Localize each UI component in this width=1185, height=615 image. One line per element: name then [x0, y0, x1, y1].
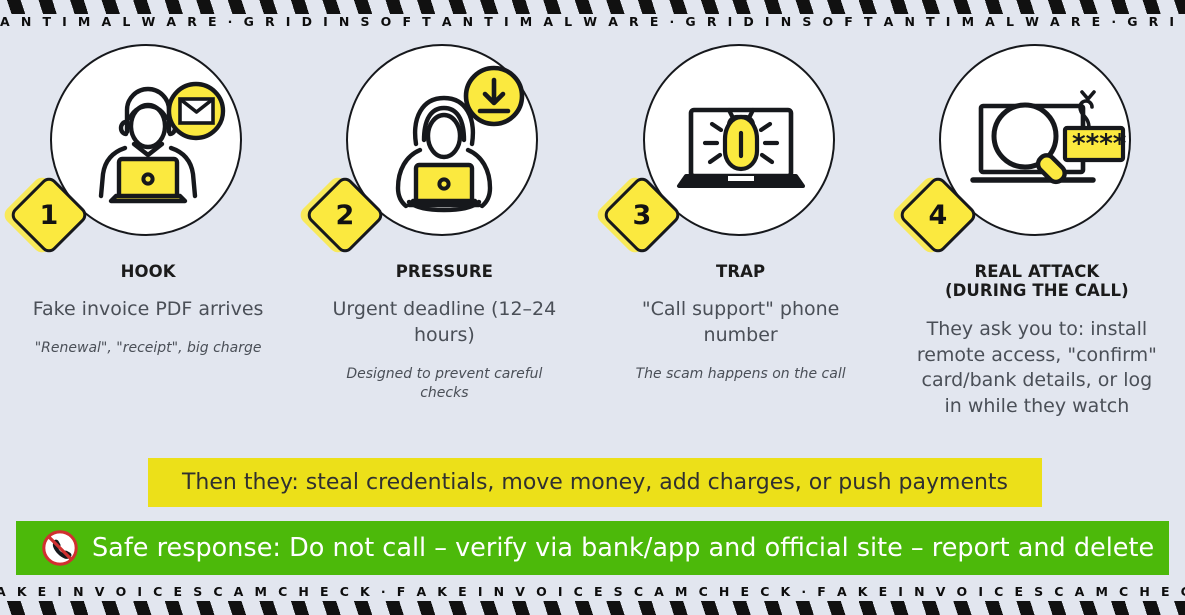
- step-4-number: 4: [928, 201, 947, 228]
- top-marquee-text: A N T I M A L W A R E · G R I D I N S O …: [0, 14, 1185, 29]
- step-2-title: PRESSURE: [396, 262, 493, 281]
- step-2: 2 PRESSURE Urgent deadline (12–24 hours)…: [308, 36, 580, 403]
- step-3-note: The scam happens on the call: [621, 365, 861, 384]
- step-3-title: TRAP: [716, 262, 765, 281]
- step-2-note: Designed to prevent careful checks: [324, 365, 564, 403]
- safe-response-text: Safe response: Do not call – verify via …: [92, 533, 1154, 563]
- step-3-description: "Call support" phone number: [616, 297, 866, 348]
- bottom-stripe-pattern: [0, 601, 1185, 615]
- step-4-description: They ask you to: install remote access, …: [912, 317, 1162, 420]
- step-2-illustration: 2: [346, 44, 542, 240]
- safe-response-banner: Safe response: Do not call – verify via …: [16, 521, 1169, 575]
- step-1-note: "Renewal", "receipt", big charge: [28, 339, 268, 358]
- step-4-title-line1: REAL ATTACK: [945, 262, 1129, 281]
- step-4-title-line2: (DURING THE CALL): [945, 281, 1129, 300]
- step-2-number: 2: [336, 201, 355, 228]
- outcome-banner: Then they: steal credentials, move money…: [148, 458, 1042, 507]
- step-3: 3 TRAP "Call support" phone number The s…: [605, 36, 877, 384]
- no-phone-call-icon: [42, 530, 78, 566]
- step-4-title: REAL ATTACK (DURING THE CALL): [945, 262, 1129, 301]
- top-marquee-bar: A N T I M A L W A R E · G R I D I N S O …: [0, 0, 1185, 34]
- top-stripe-pattern: [0, 0, 1185, 14]
- step-3-number: 3: [632, 201, 651, 228]
- step-1: 1 HOOK Fake invoice PDF arrives "Renewal…: [12, 36, 284, 358]
- step-2-description: Urgent deadline (12–24 hours): [319, 297, 569, 348]
- bottom-marquee-bar: A K E I N V O I C E S C A M C H E C K · …: [0, 579, 1185, 615]
- step-1-number: 1: [40, 201, 59, 228]
- step-1-title: HOOK: [121, 262, 176, 281]
- step-4-illustration: **** 4: [939, 44, 1135, 240]
- step-4: **** 4 REAL ATTACK (DURING THE CALL) The…: [901, 36, 1173, 436]
- step-1-illustration: 1: [50, 44, 246, 240]
- outcome-banner-text: Then they: steal credentials, move money…: [182, 470, 1008, 495]
- bottom-marquee-text: A K E I N V O I C E S C A M C H E C K · …: [0, 584, 1181, 599]
- step-3-illustration: 3: [643, 44, 839, 240]
- steps-row: 1 HOOK Fake invoice PDF arrives "Renewal…: [0, 36, 1185, 440]
- svg-text:****: ****: [1072, 129, 1127, 159]
- step-1-description: Fake invoice PDF arrives: [23, 297, 273, 323]
